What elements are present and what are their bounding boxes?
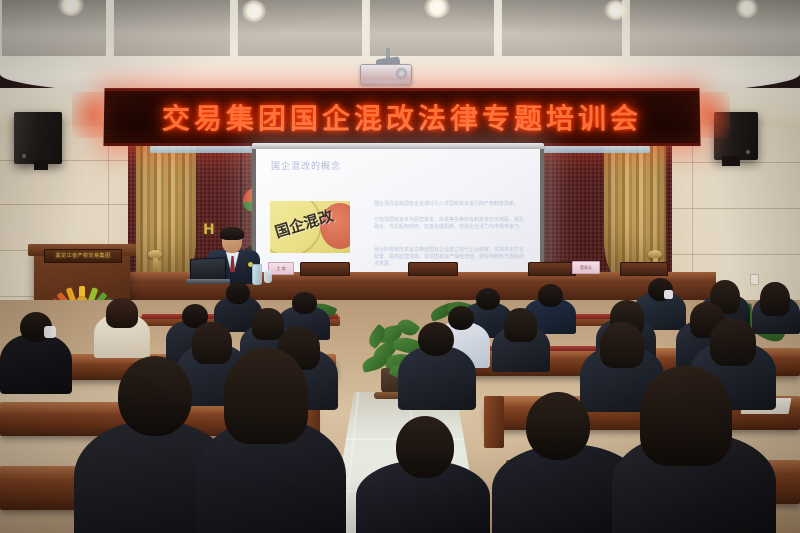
projector-lens-icon [396,68,407,79]
slide-title: 国企混改的概念 [271,159,341,172]
attendee-head-foreground [396,416,454,478]
attendee-head [418,322,454,356]
name-placard-text: 主 席 [269,263,293,274]
attendee-head [448,306,474,330]
stage-chair [620,262,668,276]
wall-speaker-right-bracket [722,156,740,166]
slide-paragraph: 它包括国有资本与民营资本、外资等多种所有制资本交叉持股、相互融合，优化股权结构、… [374,217,526,231]
drinking-glass [264,270,272,283]
lectern-nameplate: 黑龙江省产权交易集团 [44,249,122,263]
attendee-hair [710,318,756,366]
presenter-laptop-base [186,279,230,284]
attendee-head [226,282,250,304]
face-mask [664,290,673,299]
projection-screen: 国企混改的概念 国企混改 国企混改是指国有企业通过引入非国有资本进行的产权制度改… [256,149,540,275]
name-placard-text: 董事长 [573,262,599,273]
attendee-head-foreground [118,356,192,436]
face-mask [44,326,56,338]
ceiling-panel [628,0,800,62]
attendee-hair [252,308,284,340]
wall-gold-char-left: H [203,222,215,238]
attendee-hair [760,282,790,316]
water-bottle [252,264,262,285]
attendee-hair [504,308,537,342]
wall-outlet [750,274,759,285]
presenter-hair [220,227,244,240]
attendee-head [292,292,317,314]
attendee-hair-foreground [224,348,308,444]
attendee-head [538,284,563,307]
attendee-hair [106,298,138,328]
wall-speaker-left-bracket [34,160,48,170]
led-banner: 交易集团国企混改法律专题培训会 [103,88,700,146]
name-placard: 董事长 [572,261,600,274]
attendee-head [476,288,500,310]
ceiling-downlight [604,0,628,20]
stage-curtain-left [136,140,196,292]
microphone-head-icon [247,246,252,251]
attendee-hair [192,322,232,364]
bench-end-panel [484,396,504,448]
screen-edge-right [540,149,544,275]
attendee-torso [0,334,72,394]
ceiling-panel [0,0,112,62]
slide-illustration: 国企混改 [270,201,350,253]
attendee-hair [600,322,644,368]
stage-chair [408,262,458,276]
lectern-nameplate-text: 黑龙江省产权交易集团 [45,250,121,262]
conference-hall-photo: H 团 交易集团国企混改法律专题培训会 国企混改的概念 国企混改 国企混改是指国… [0,0,800,533]
wall-speaker-left [14,112,62,164]
slide-paragraph: 国企混改是指国有企业通过引入非国有资本进行的产权制度改革。 [374,201,526,208]
attendee-hair-foreground [640,366,732,466]
ceiling-downlight [242,0,266,22]
ceiling-panel [112,0,236,62]
stage-chair [300,262,350,276]
attendee-head-foreground [526,392,590,460]
led-banner-text: 交易集团国企混改法律专题培训会 [104,97,701,137]
stage-chair [528,262,576,276]
